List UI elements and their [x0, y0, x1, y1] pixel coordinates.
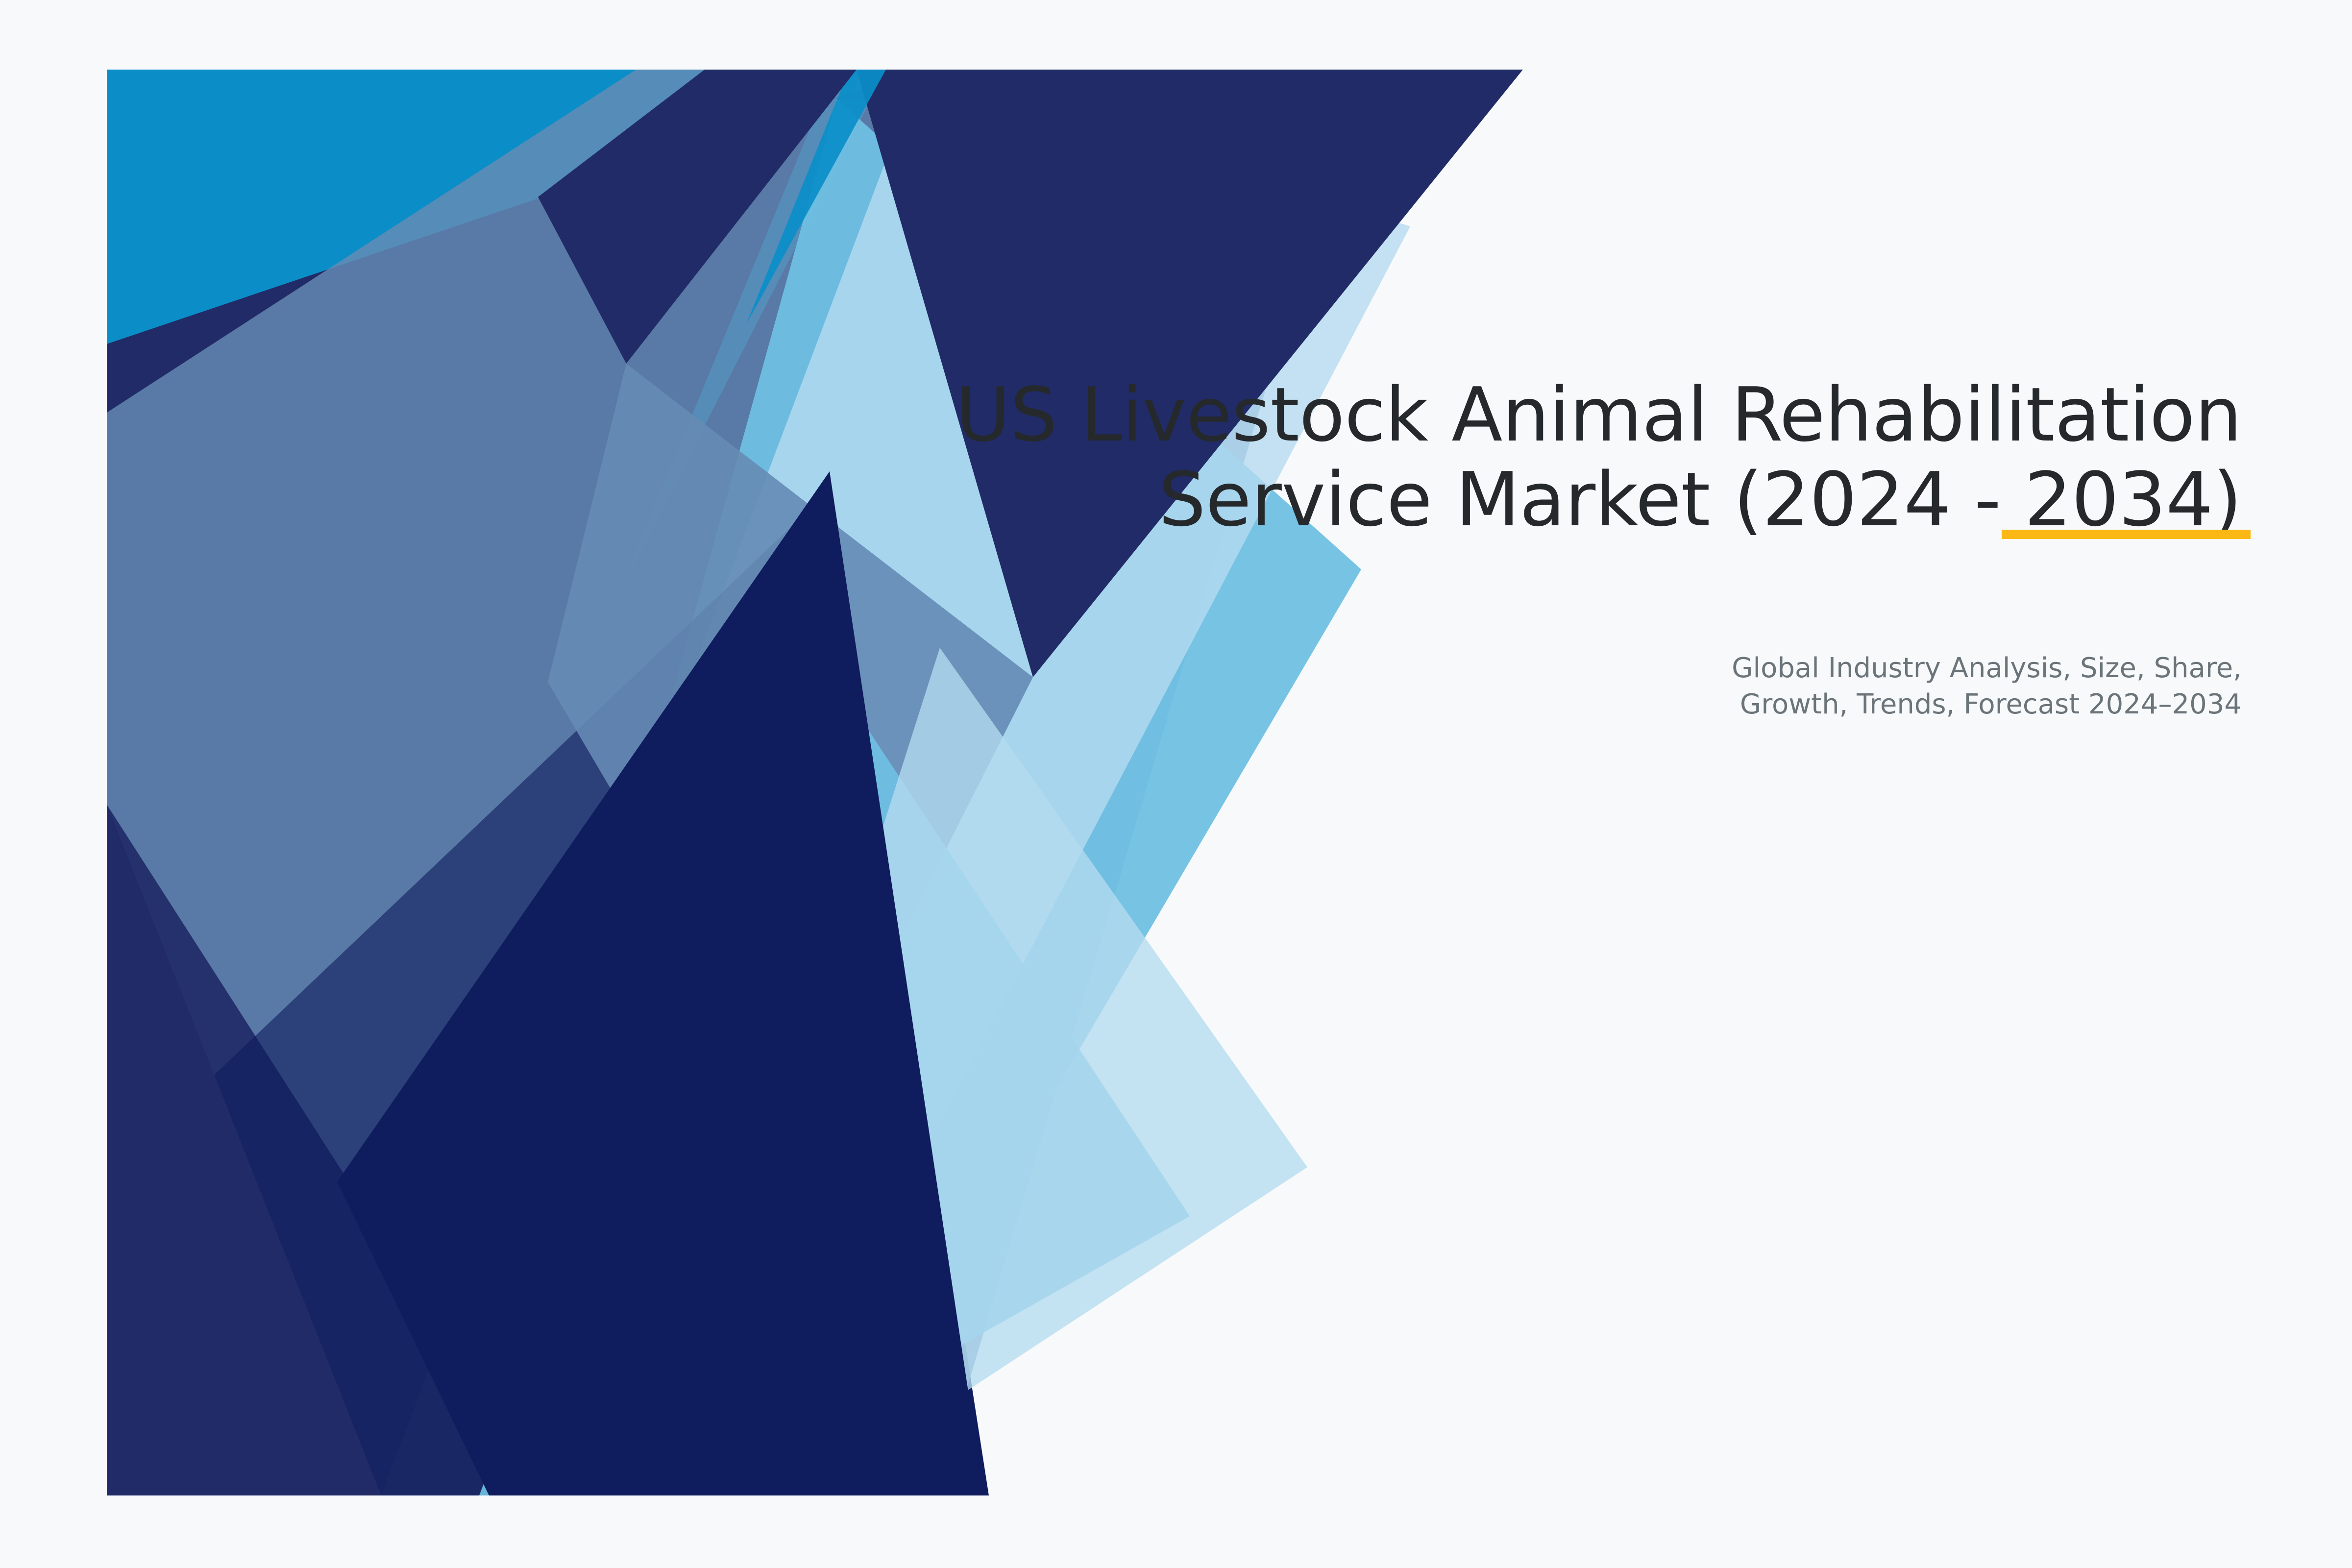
page-title: US Livestock Animal Rehabilitation Servi… — [784, 372, 2242, 542]
page-subtitle: Global Industry Analysis, Size, Share, G… — [1274, 650, 2242, 723]
cover-text-block: US Livestock Animal Rehabilitation Servi… — [784, 372, 2242, 542]
abstract-geometric-artwork — [107, 70, 1523, 1495]
title-accent-underline — [2002, 530, 2251, 539]
report-cover-page: US Livestock Animal Rehabilitation Servi… — [0, 0, 2352, 1568]
